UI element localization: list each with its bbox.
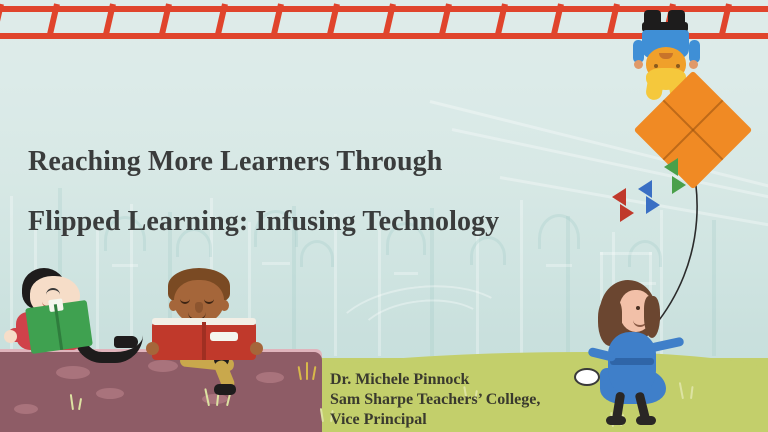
slide-title-line-1: Reaching More Learners Through [28, 146, 442, 177]
slide-subtitle: Dr. Michele Pinnock Sam Sharpe Teachers’… [330, 370, 660, 430]
slide-title: Reaching More Learners Through Flipped L… [28, 132, 628, 252]
slide-title-line-2: Flipped Learning: Infusing Technology [28, 192, 628, 252]
sitting-reader-icon [152, 268, 262, 366]
presenter-role: Vice Principal [330, 410, 660, 430]
presentation-slide: Reaching More Learners Through Flipped L… [0, 0, 768, 432]
presenter-institution: Sam Sharpe Teachers’ College, [330, 390, 660, 410]
presenter-name: Dr. Michele Pinnock [330, 370, 660, 390]
reclining-reader-icon [2, 268, 138, 362]
